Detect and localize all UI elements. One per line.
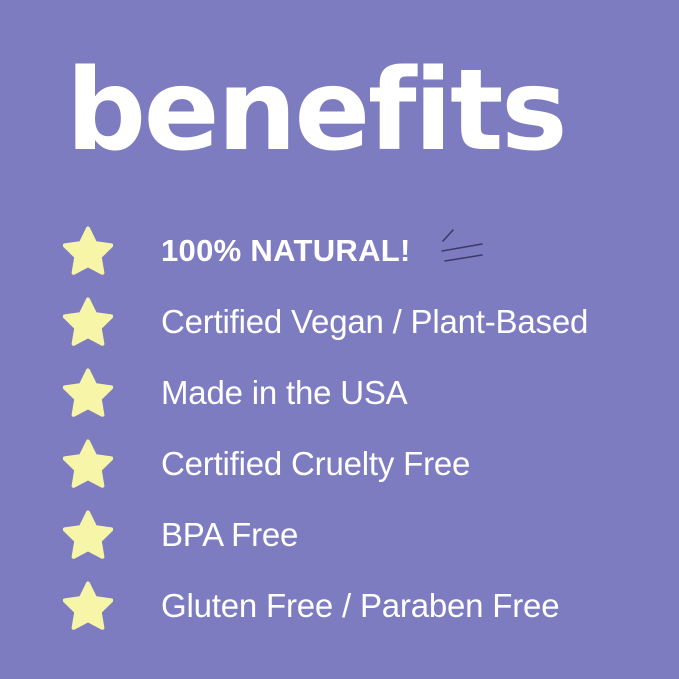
page-title: benefits [66,52,626,172]
star-icon [63,368,113,418]
list-item: Certified Cruelty Free [0,428,679,499]
list-item: BPA Free [0,499,679,570]
list-item-label: Certified Vegan / Plant-Based [161,302,588,342]
benefits-poster: benefits 100% NATURAL! Certified Vegan /… [0,0,679,679]
list-item: Made in the USA [0,357,679,428]
star-icon [63,439,113,489]
star-icon [63,510,113,560]
benefits-list: 100% NATURAL! Certified Vegan / Plant-Ba… [0,215,679,645]
list-item-label: Gluten Free / Paraben Free [161,586,559,626]
star-icon [63,226,113,276]
star-icon [63,581,113,631]
list-item-label: BPA Free [161,515,298,555]
list-item-label: 100% NATURAL! [161,231,411,271]
list-item: Gluten Free / Paraben Free [0,570,679,641]
list-item-label: Certified Cruelty Free [161,444,470,484]
sparkle-icon [438,227,486,275]
list-item-label: Made in the USA [161,373,407,413]
list-item: Certified Vegan / Plant-Based [0,286,679,357]
star-icon [63,297,113,347]
list-item: 100% NATURAL! [0,215,679,286]
